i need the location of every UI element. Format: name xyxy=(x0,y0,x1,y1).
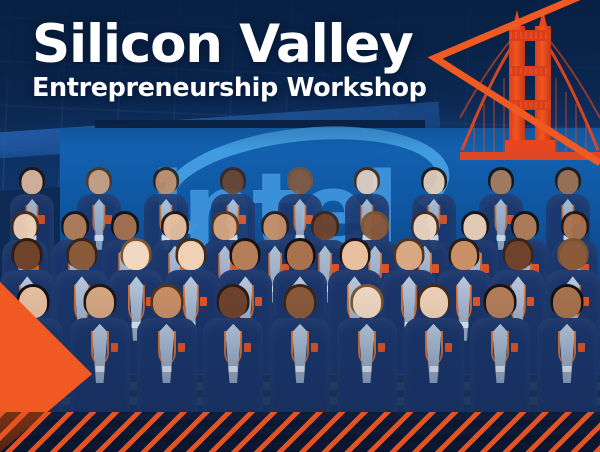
photo-person-face xyxy=(178,241,204,270)
photo-person-face xyxy=(505,241,531,270)
photo-person-face xyxy=(290,170,311,194)
photo-person-face xyxy=(420,287,448,318)
photo-person xyxy=(270,284,330,418)
photo-person xyxy=(404,284,464,418)
photo-person-face xyxy=(14,241,40,270)
photo-person-jacket xyxy=(337,318,397,414)
photo-person-face xyxy=(219,287,247,318)
photo-person-lanyard xyxy=(558,331,576,364)
photo-person-face xyxy=(153,287,181,318)
photo-person-face xyxy=(287,241,313,270)
photo-person xyxy=(337,284,397,418)
photo-person-face xyxy=(342,241,368,270)
photo-person-jacket xyxy=(470,318,530,414)
page-title: Silicon Valley xyxy=(32,18,462,71)
photo-person-face xyxy=(353,287,381,318)
photo-person-face xyxy=(286,287,314,318)
photo-person-lanyard xyxy=(224,331,242,364)
photo-person-face xyxy=(89,170,110,194)
photo-person-badge xyxy=(563,366,572,372)
title-block: Silicon Valley Entrepreneurship Workshop xyxy=(32,18,462,102)
photo-person-face xyxy=(156,170,177,194)
photo-person-jacket xyxy=(203,318,263,414)
photo-person-badge xyxy=(362,366,371,372)
photo-person-jacket xyxy=(404,318,464,414)
photo-person-jacket xyxy=(137,318,197,414)
photo-person xyxy=(137,284,197,418)
photo-person-face xyxy=(69,241,95,270)
photo-person-badge xyxy=(296,366,305,372)
photo-person-lanyard xyxy=(291,331,309,364)
photo-person-lanyard xyxy=(425,331,443,364)
photo-person-face xyxy=(232,241,258,270)
photo-person-face xyxy=(451,241,477,270)
photo-person-lanyard xyxy=(91,331,109,364)
photo-person xyxy=(203,284,263,418)
photo-person-badge xyxy=(162,366,171,372)
photo-person-badge xyxy=(95,366,104,372)
photo-person-badge xyxy=(429,366,438,372)
page-subtitle: Entrepreneurship Workshop xyxy=(32,75,462,102)
diagonal-stripe-band xyxy=(0,412,600,452)
photo-person-badge xyxy=(229,366,238,372)
photo-person-badge xyxy=(496,366,505,372)
photo-person-face xyxy=(22,170,43,194)
photo-person-jacket xyxy=(537,318,597,414)
photo-person-face xyxy=(223,170,244,194)
poster-canvas: intel xyxy=(0,0,600,452)
photo-person-lanyard xyxy=(491,331,509,364)
photo-person-lanyard xyxy=(358,331,376,364)
photo-person-face xyxy=(553,287,581,318)
photo-person xyxy=(537,284,597,418)
photo-person-lanyard xyxy=(158,331,176,364)
photo-person-jacket xyxy=(270,318,330,414)
photo-person-face xyxy=(356,170,377,194)
photo-person-face xyxy=(560,241,586,270)
photo-person-face xyxy=(123,241,149,270)
photo-person-face xyxy=(396,241,422,270)
photo-person xyxy=(470,284,530,418)
photo-person-face xyxy=(486,287,514,318)
